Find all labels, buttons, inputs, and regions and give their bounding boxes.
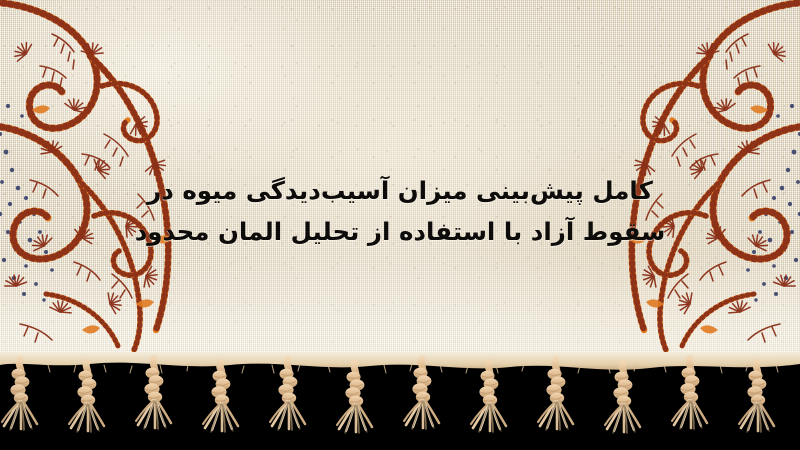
title-card-canvas: کامل پیش‌بینی میزان آسیب‌دیدگی میوه در س… xyxy=(0,0,800,450)
black-backdrop xyxy=(0,352,800,450)
page-title: کامل پیش‌بینی میزان آسیب‌دیدگی میوه در س… xyxy=(0,170,800,252)
title-line-1: کامل پیش‌بینی میزان آسیب‌دیدگی میوه در xyxy=(0,170,800,211)
title-line-2: سقوط آزاد با استفاده از تحلیل المان محدو… xyxy=(0,211,800,252)
